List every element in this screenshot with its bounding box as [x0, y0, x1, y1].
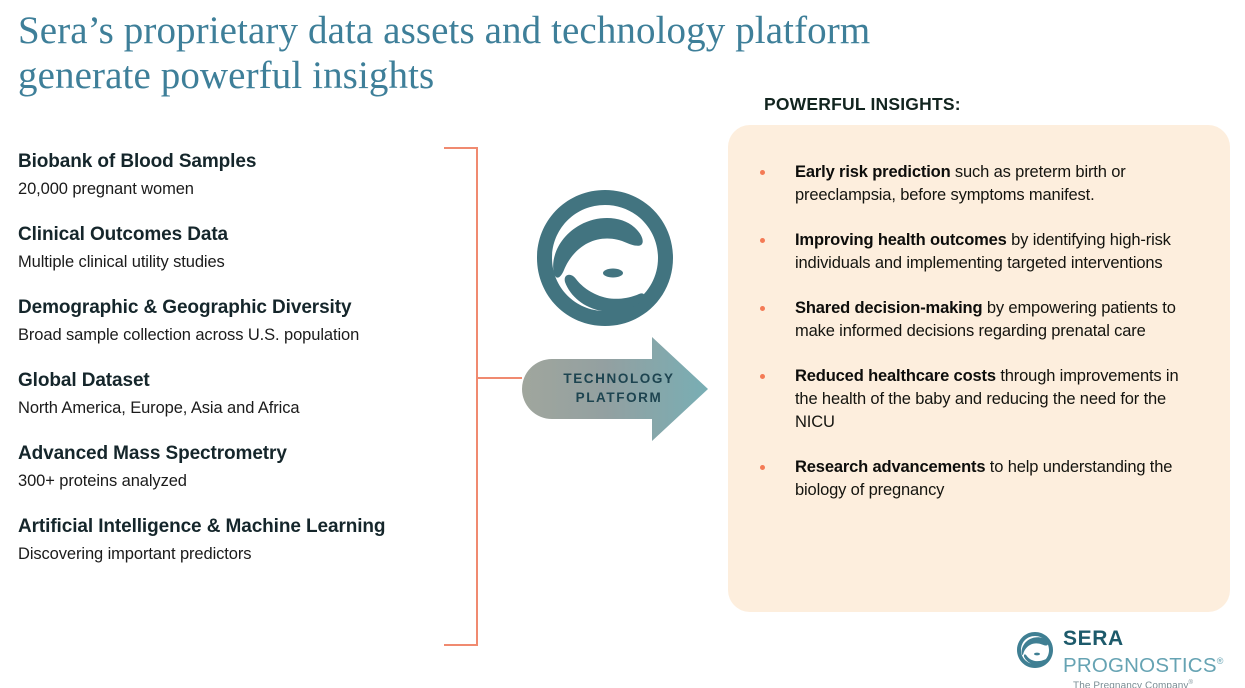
insights-panel: Early risk prediction such as preterm bi…	[728, 125, 1230, 612]
bracket-spine	[476, 147, 478, 646]
asset-detail: 20,000 pregnant women	[18, 178, 438, 201]
insight-lead: Early risk prediction	[795, 163, 951, 181]
list-item: Reduced healthcare costs through improve…	[760, 365, 1204, 434]
asset-heading: Demographic & Geographic Diversity	[18, 296, 438, 320]
arrow-label-line-1: TECHNOLOGY	[558, 369, 680, 388]
asset-detail: Multiple clinical utility studies	[18, 251, 438, 274]
registered-mark-icon: ®	[1217, 656, 1224, 666]
insight-lead: Reduced healthcare costs	[795, 367, 996, 385]
bullet-dot-icon	[760, 306, 765, 311]
brand-name-primary: SERA	[1063, 628, 1239, 649]
insight-lead: Research advancements	[795, 458, 985, 476]
insight-text: Early risk prediction such as preterm bi…	[795, 161, 1204, 207]
asset-heading: Advanced Mass Spectrometry	[18, 442, 438, 466]
list-item: Improving health outcomes by identifying…	[760, 229, 1204, 275]
insights-heading: POWERFUL INSIGHTS:	[764, 94, 961, 115]
bracket-bottom-arm	[444, 644, 478, 646]
list-item: Early risk prediction such as preterm bi…	[760, 161, 1204, 207]
bullet-dot-icon	[760, 238, 765, 243]
insight-text: Reduced healthcare costs through improve…	[795, 365, 1204, 434]
slide-canvas: Sera’s proprietary data assets and techn…	[0, 0, 1245, 688]
brand-logo: SERA PROGNOSTICS® The Pregnancy Company®	[1015, 628, 1237, 684]
sera-circle-mark-icon	[530, 184, 680, 332]
list-item: Artificial Intelligence & Machine Learni…	[18, 515, 438, 566]
technology-platform-arrow: TECHNOLOGY PLATFORM	[518, 333, 712, 445]
asset-detail: Discovering important predictors	[18, 543, 438, 566]
asset-detail: Broad sample collection across U.S. popu…	[18, 324, 438, 347]
asset-heading: Artificial Intelligence & Machine Learni…	[18, 515, 438, 539]
page-title-line-1: Sera’s proprietary data assets and techn…	[18, 8, 998, 53]
bracket-top-arm	[444, 147, 478, 149]
bullet-dot-icon	[760, 374, 765, 379]
page-title-line-2: generate powerful insights	[18, 53, 998, 98]
arrow-label-line-2: PLATFORM	[558, 388, 680, 407]
brand-name-secondary-text: PROGNOSTICS	[1063, 654, 1217, 677]
asset-heading: Clinical Outcomes Data	[18, 223, 438, 247]
list-item: Shared decision-making by empowering pat…	[760, 297, 1204, 343]
list-item: Biobank of Blood Samples 20,000 pregnant…	[18, 150, 438, 201]
brand-tagline-text: The Pregnancy Company	[1073, 680, 1189, 688]
list-item: Global Dataset North America, Europe, As…	[18, 369, 438, 420]
sera-logo-mark-icon	[1015, 630, 1055, 670]
brand-name-secondary: PROGNOSTICS®	[1063, 650, 1239, 677]
asset-heading: Global Dataset	[18, 369, 438, 393]
list-item: Advanced Mass Spectrometry 300+ proteins…	[18, 442, 438, 493]
bullet-dot-icon	[760, 170, 765, 175]
bullet-dot-icon	[760, 465, 765, 470]
asset-detail: North America, Europe, Asia and Africa	[18, 397, 438, 420]
asset-detail: 300+ proteins analyzed	[18, 470, 438, 493]
list-item: Research advancements to help understand…	[760, 456, 1204, 502]
arrow-label: TECHNOLOGY PLATFORM	[558, 369, 680, 407]
grouping-bracket	[444, 147, 478, 646]
registered-mark-icon: ®	[1189, 680, 1194, 686]
asset-heading: Biobank of Blood Samples	[18, 150, 438, 174]
insight-text: Research advancements to help understand…	[795, 456, 1204, 502]
insight-text: Improving health outcomes by identifying…	[795, 229, 1204, 275]
page-title: Sera’s proprietary data assets and techn…	[18, 8, 998, 98]
insight-text: Shared decision-making by empowering pat…	[795, 297, 1204, 343]
list-item: Clinical Outcomes Data Multiple clinical…	[18, 223, 438, 274]
brand-tagline: The Pregnancy Company®	[1073, 680, 1239, 688]
insight-lead: Improving health outcomes	[795, 231, 1007, 249]
list-item: Demographic & Geographic Diversity Broad…	[18, 296, 438, 347]
bracket-connector-tick	[478, 377, 522, 379]
brand-wordmark: SERA PROGNOSTICS® The Pregnancy Company®	[1063, 628, 1239, 688]
insight-lead: Shared decision-making	[795, 299, 982, 317]
data-assets-list: Biobank of Blood Samples 20,000 pregnant…	[18, 150, 438, 566]
